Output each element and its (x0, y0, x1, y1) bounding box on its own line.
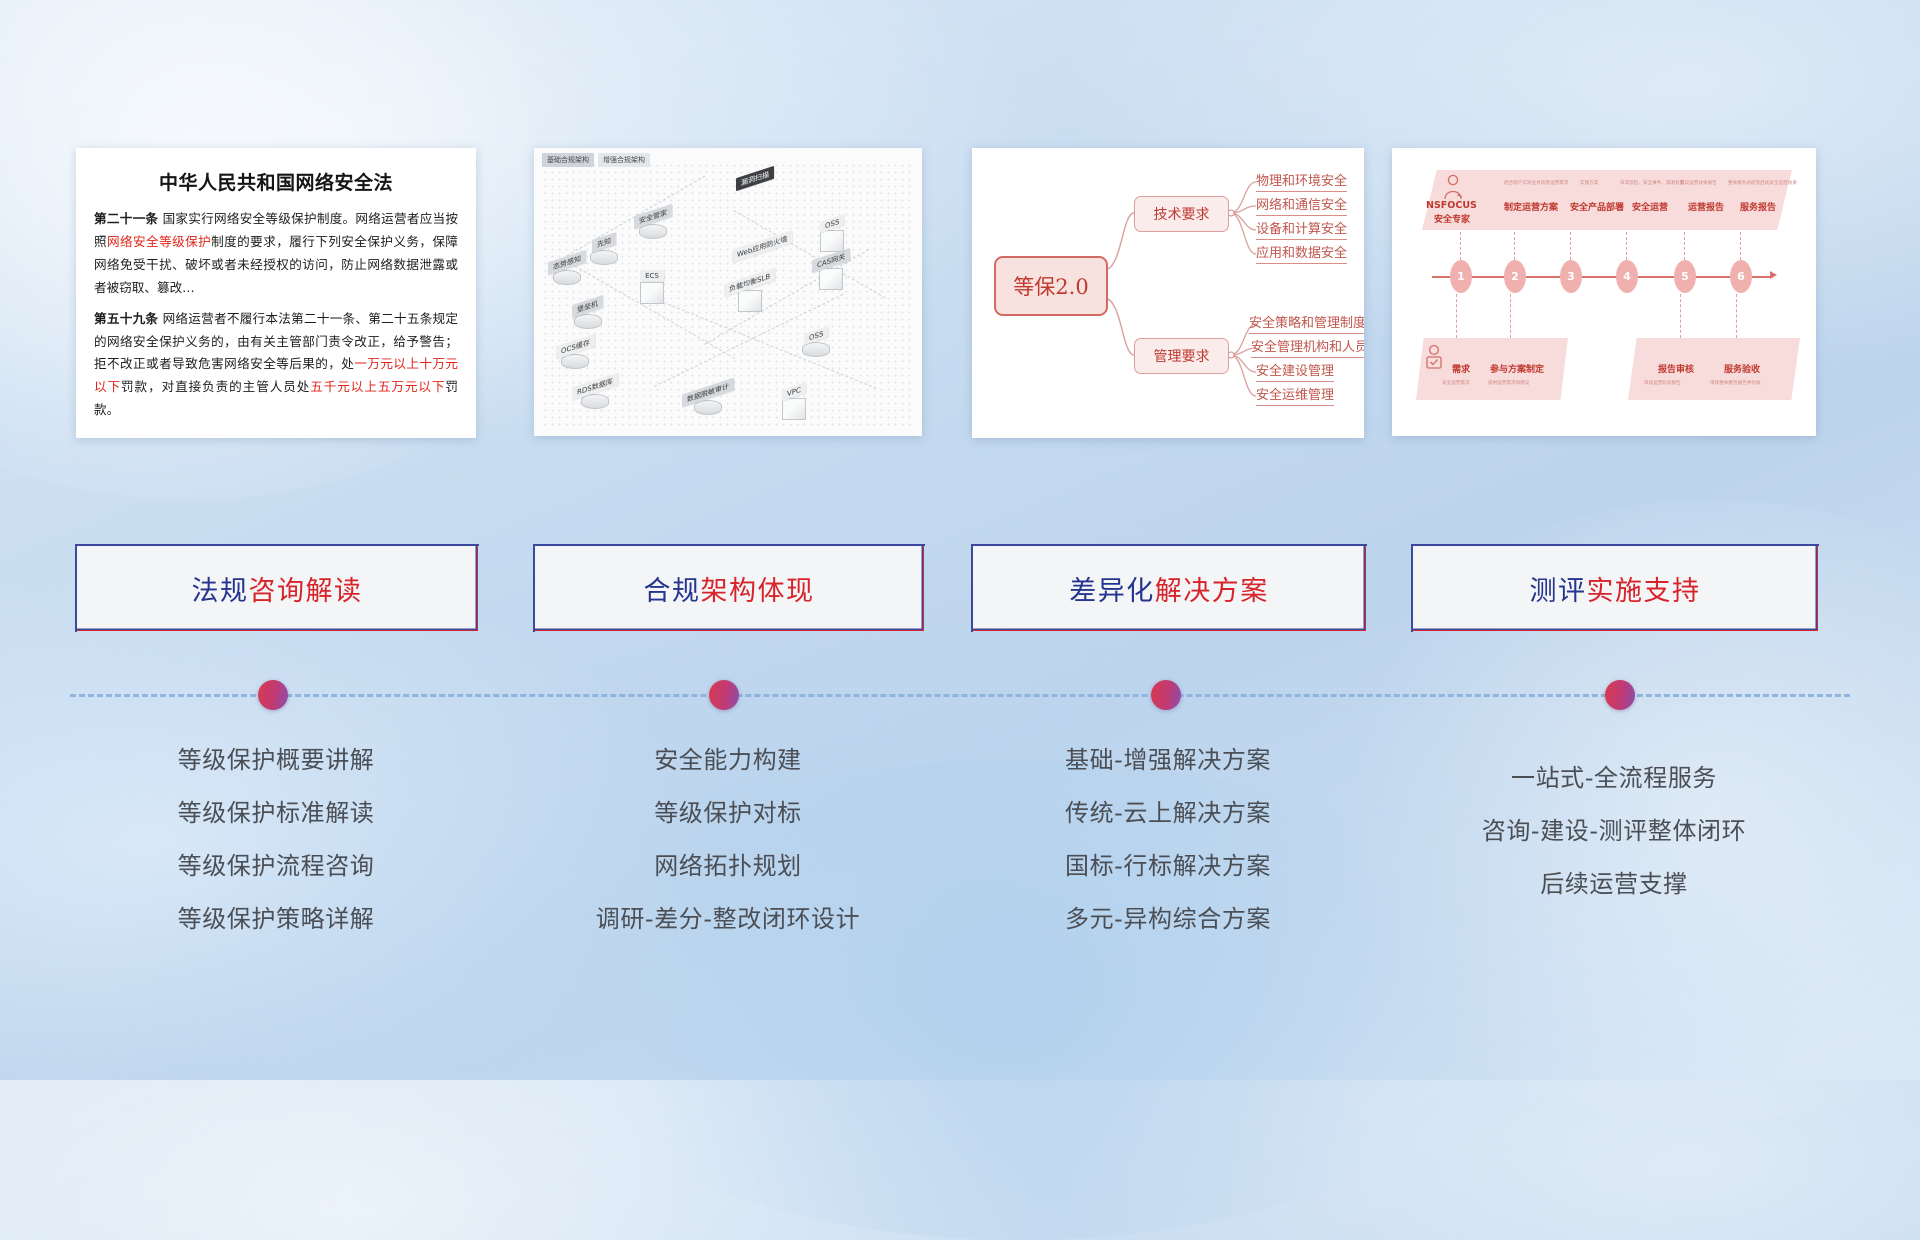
card-nsfocus-process: NSFOCUS 安全专家 结合客户实际业务场景运营需求 制定运营方案 实施方案 … (1392, 148, 1816, 436)
bottom-step-label: 参与方案制定 (1490, 362, 1544, 375)
marker-connector (1570, 232, 1571, 260)
marker-connector (1460, 232, 1461, 260)
label-box-regulation-consulting[interactable]: 法规咨询解读 (76, 545, 478, 631)
detail-column-3: 基础-增强解决方案 传统-云上解决方案 国标-行标解决方案 多元-异构综合方案 (972, 740, 1364, 952)
marker-connector (1456, 294, 1457, 338)
top-step-note: 实施方案 (1580, 180, 1598, 186)
detail-item: 网络拓扑规划 (534, 846, 922, 881)
card-cybersecurity-law: 中华人民共和国网络安全法 第二十一条 国家实行网络安全等级保护制度。网络运营者应… (76, 148, 476, 438)
arch-node-ecs: ECS (640, 270, 664, 304)
law-title: 中华人民共和国网络安全法 (94, 168, 458, 195)
mindmap-branch-technical: 技术要求 (1134, 196, 1229, 232)
timeline-marker: 6 (1730, 260, 1752, 293)
tab-basic-architecture[interactable]: 基础合规架构 (542, 153, 594, 167)
timeline-axis (1432, 276, 1772, 278)
bottom-step-note: 审核运营阶段报告 (1644, 380, 1681, 386)
top-step-note: 整体服务总结及后续安全运营效果 (1728, 180, 1797, 186)
arch-node-vulnerability-scan: OSS (820, 218, 844, 252)
arch-node-ocs-cache: OCS缓存 (556, 340, 595, 369)
card-compliance-architecture: 基础合规架构 增强合规架构 态势感知 先知 安全管家 漏洞扫描 堡垒机 (534, 148, 922, 436)
arch-node-vpc: VPC (782, 386, 806, 420)
top-step-label: 安全产品部署 (1570, 200, 1624, 213)
detail-item: 等级保护策略详解 (76, 899, 476, 934)
bottom-step-label: 报告审核 (1658, 362, 1694, 375)
nsfocus-timeline: NSFOCUS 安全专家 结合客户实际业务场景运营需求 制定运营方案 实施方案 … (1392, 148, 1816, 436)
arch-node-bastion-host: 堡垒机 (572, 300, 603, 329)
law-article-21: 第二十一条 国家实行网络安全等级保护制度。网络运营者应当按照网络安全等级保护制度… (94, 208, 458, 300)
architecture-tabs: 基础合规架构 增强合规架构 (542, 153, 650, 167)
detail-column-2: 安全能力构建 等级保护对标 网络拓扑规划 调研-差分-整改闭环设计 (534, 740, 922, 952)
arch-node-gateway-dark: 漏洞扫描 (736, 172, 774, 185)
timeline-arrow-icon (1770, 271, 1777, 279)
mindmap-leaf: 安全管理机构和人员 (1251, 336, 1364, 358)
arch-node-oss: OSS (802, 330, 830, 357)
tab-enhanced-architecture[interactable]: 增强合规架构 (598, 153, 650, 167)
arch-node-prophet: 先知 (590, 236, 618, 265)
mindmap: 等保2.0 技术要求 管理要求 物理和环境安全 网络和通信安全 设备和计算安全 … (972, 148, 1364, 438)
timeline-marker: 5 (1674, 260, 1696, 293)
top-step-note: 阶段运营效果报告 (1680, 180, 1717, 186)
expert-person-icon (1442, 174, 1464, 200)
card-mindmap-dengbao: 等保2.0 技术要求 管理要求 物理和环境安全 网络和通信安全 设备和计算安全 … (972, 148, 1364, 438)
top-step-label: 服务报告 (1740, 200, 1776, 213)
arch-node-rds-database: RDS数据库 (572, 380, 618, 409)
detail-item: 传统-云上解决方案 (972, 793, 1364, 828)
dashed-timeline (70, 694, 1850, 697)
detail-column-4: 一站式-全流程服务 咨询-建设-测评整体闭环 后续运营支撑 (1412, 758, 1816, 917)
article-21-highlight: 网络安全等级保护 (107, 234, 211, 249)
marker-connector (1680, 294, 1681, 338)
detail-item: 等级保护流程咨询 (76, 846, 476, 881)
timeline-marker: 3 (1560, 260, 1582, 293)
detail-item: 咨询-建设-测评整体闭环 (1412, 811, 1816, 846)
bottom-step-note: 提供运营需求和建议 (1488, 380, 1529, 386)
detail-item: 等级保护对标 (534, 793, 922, 828)
detail-item: 等级保护标准解读 (76, 793, 476, 828)
bottom-step-note: 审核整体服务报告并验收 (1710, 380, 1761, 386)
brand-subtitle: 安全专家 (1434, 212, 1470, 225)
label-prefix: 法规 (192, 576, 249, 607)
detail-item: 调研-差分-整改闭环设计 (534, 899, 922, 934)
top-step-note: 结合客户实际业务场景运营需求 (1504, 180, 1568, 186)
article-59-text-b: 罚款，对直接负责的主管人员处 (121, 379, 310, 394)
arch-node-cas-gateway: CAS网关 (812, 254, 850, 290)
arch-node-situational-awareness: 态势感知 (548, 256, 586, 285)
label-suffix: 咨询解读 (249, 576, 363, 607)
customer-person-icon (1424, 344, 1444, 370)
timeline-marker: 4 (1616, 260, 1638, 293)
bottom-band-right (1628, 338, 1800, 400)
detail-item: 一站式-全流程服务 (1412, 758, 1816, 793)
top-step-label: 运营报告 (1688, 200, 1724, 213)
mindmap-branch-management: 管理要求 (1134, 338, 1229, 374)
mindmap-leaf: 设备和计算安全 (1256, 218, 1347, 240)
label-box-evaluation-support[interactable]: 测评实施支持 (1412, 545, 1818, 631)
arch-node-security-steward: 安全管家 (634, 210, 672, 239)
bottom-step-note: 安全运营需求 (1442, 380, 1470, 386)
label-box-row: 法规咨询解读 合规架构体现 差异化解决方案 测评实施支持 (0, 545, 1920, 645)
detail-item: 多元-异构综合方案 (972, 899, 1364, 934)
marker-connector (1684, 232, 1685, 260)
law-document: 中华人民共和国网络安全法 第二十一条 国家实行网络安全等级保护制度。网络运营者应… (76, 148, 476, 438)
card-row: 中华人民共和国网络安全法 第二十一条 国家实行网络安全等级保护制度。网络运营者应… (0, 148, 1920, 453)
marker-connector (1626, 232, 1627, 260)
arch-node-data-masking-audit: 数据脱敏审计 (682, 386, 734, 415)
mindmap-leaf: 安全运维管理 (1256, 384, 1334, 406)
article-21-label: 第二十一条 (94, 211, 158, 226)
mindmap-root-node: 等保2.0 (994, 256, 1108, 316)
arch-node-slb: 负载均衡SLB (724, 276, 775, 312)
timeline-marker: 1 (1450, 260, 1472, 293)
detail-item: 等级保护概要讲解 (76, 740, 476, 775)
timeline-dot-3[interactable] (1151, 680, 1181, 710)
marker-connector (1510, 294, 1511, 338)
article-59-label: 第五十九条 (94, 311, 158, 326)
label-prefix: 测评 (1530, 576, 1587, 607)
arch-node-web-waf: Web应用防火墙 (732, 240, 792, 253)
bottom-step-label: 服务验收 (1724, 362, 1760, 375)
label-prefix: 差异化 (1069, 576, 1155, 607)
detail-item: 后续运营支撑 (1412, 864, 1816, 899)
top-step-label: 制定运营方案 (1504, 200, 1558, 213)
brand-name: NSFOCUS (1426, 200, 1477, 211)
mindmap-leaf: 安全策略和管理制度 (1249, 312, 1364, 334)
marker-connector (1736, 294, 1737, 338)
article-59-highlight-2: 五千元以上五万元以下 (310, 379, 445, 394)
top-step-label: 安全运营 (1632, 200, 1668, 213)
timeline-dot-1[interactable] (258, 680, 288, 710)
mindmap-leaf: 安全建设管理 (1256, 360, 1334, 382)
detail-item: 国标-行标解决方案 (972, 846, 1364, 881)
label-suffix: 实施支持 (1587, 576, 1701, 607)
marker-connector (1740, 232, 1741, 260)
bottom-step-label: 需求 (1452, 362, 1470, 375)
timeline-marker: 2 (1504, 260, 1526, 293)
timeline-dot-2[interactable] (709, 680, 739, 710)
mindmap-leaf: 应用和数据安全 (1256, 242, 1347, 264)
marker-connector (1514, 232, 1515, 260)
mindmap-leaf: 网络和通信安全 (1256, 194, 1347, 216)
label-suffix: 解决方案 (1155, 576, 1269, 607)
architecture-diagram: 基础合规架构 增强合规架构 态势感知 先知 安全管家 漏洞扫描 堡垒机 (534, 148, 922, 436)
mindmap-leaf: 物理和环境安全 (1256, 170, 1347, 192)
label-prefix: 合规 (644, 576, 701, 607)
detail-item: 基础-增强解决方案 (972, 740, 1364, 775)
label-suffix: 架构体现 (701, 576, 815, 607)
detail-column-1: 等级保护概要讲解 等级保护标准解读 等级保护流程咨询 等级保护策略详解 (76, 740, 476, 952)
detail-item: 安全能力构建 (534, 740, 922, 775)
law-article-59: 第五十九条 网络运营者不履行本法第二十一条、第二十五条规定的网络安全保护义务的，… (94, 308, 458, 423)
label-box-differentiated-solution[interactable]: 差异化解决方案 (972, 545, 1366, 631)
label-box-compliance-architecture[interactable]: 合规架构体现 (534, 545, 924, 631)
timeline-dot-4[interactable] (1605, 680, 1635, 710)
top-step-note: 日常巡检、安全事件、漏洞处置 (1620, 180, 1684, 186)
